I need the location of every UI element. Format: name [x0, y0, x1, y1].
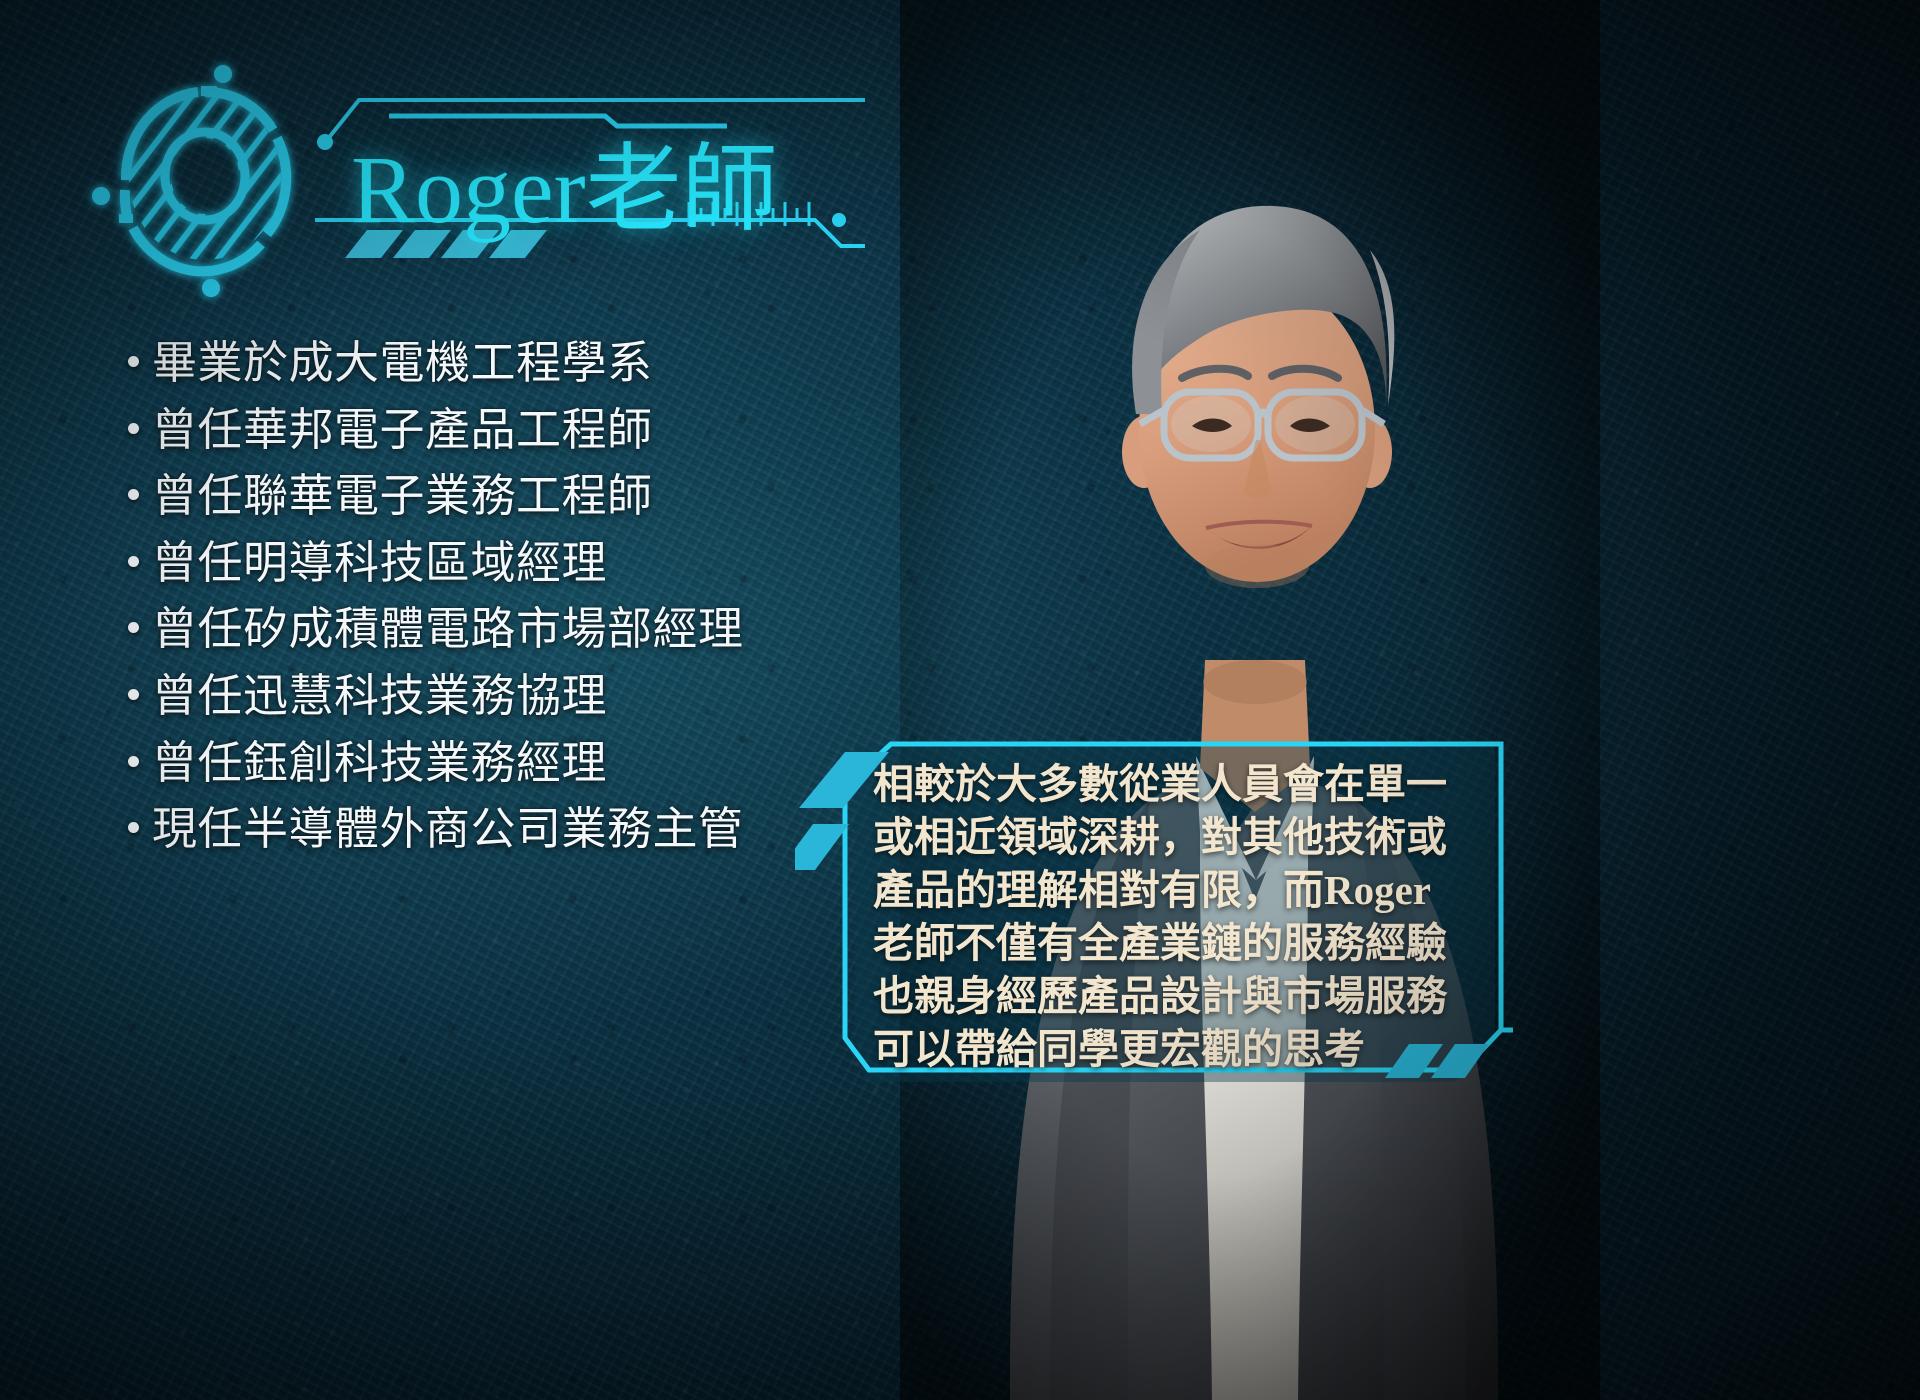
list-item: 曾任迅慧科技業務協理 — [128, 663, 908, 730]
quote-line: 老師不僅有全產業鏈的服務經驗 — [873, 917, 1503, 970]
list-item: 現任半導體外商公司業務主管 — [128, 796, 908, 863]
list-item-label: 曾任明導科技區域經理 — [152, 530, 607, 597]
bullet-dot-icon — [128, 489, 139, 500]
bullet-dot-icon — [128, 756, 139, 767]
slide-canvas: Roger老師 畢業於成大電機工程學系 曾任華邦電子產品工程師 曾任聯華電子業務… — [0, 0, 1920, 1400]
list-item-label: 曾任聯華電子業務工程師 — [152, 463, 653, 530]
title-block: Roger老師 — [345, 62, 865, 287]
bullet-dot-icon — [128, 689, 139, 700]
list-item-label: 曾任鈺創科技業務經理 — [152, 730, 607, 797]
bullet-dot-icon — [128, 822, 139, 833]
bullet-dot-icon — [128, 423, 139, 434]
list-item: 曾任聯華電子業務工程師 — [128, 463, 908, 530]
list-item: 曾任鈺創科技業務經理 — [128, 730, 908, 797]
tech-circle-logo — [95, 62, 315, 294]
connector-node-icon — [317, 134, 333, 150]
quote-line: 產品的理解相對有限，而Roger — [873, 864, 1503, 917]
bullet-dot-icon — [128, 356, 139, 367]
quote-callout: 相較於大多數從業人員會在單一 或相近領域深耕，對其他技術或 產品的理解相對有限，… — [795, 738, 1513, 1090]
list-item: 畢業於成大電機工程學系 — [128, 330, 908, 397]
quote-line: 可以帶給同學更宏觀的思考 — [873, 1023, 1503, 1076]
page-title: Roger老師 — [351, 142, 778, 238]
quote-line: 也親身經歷產品設計與市場服務 — [873, 970, 1503, 1023]
quote-line: 或相近領域深耕，對其他技術或 — [873, 811, 1503, 864]
list-item: 曾任明導科技區域經理 — [128, 530, 908, 597]
list-item-label: 畢業於成大電機工程學系 — [152, 330, 653, 397]
list-item: 曾任矽成積體電路市場部經理 — [128, 596, 908, 663]
quote-line: 相較於大多數從業人員會在單一 — [873, 758, 1503, 811]
avatar — [900, 0, 1600, 1400]
line-end-node-icon — [832, 213, 846, 227]
list-item-label: 曾任迅慧科技業務協理 — [152, 663, 607, 730]
list-item-label: 曾任矽成積體電路市場部經理 — [152, 596, 744, 663]
bullet-dot-icon — [128, 622, 139, 633]
credentials-list: 畢業於成大電機工程學系 曾任華邦電子產品工程師 曾任聯華電子業務工程師 曾任明導… — [128, 330, 908, 863]
quote-text: 相較於大多數從業人員會在單一 或相近領域深耕，對其他技術或 產品的理解相對有限，… — [873, 758, 1503, 1076]
list-item: 曾任華邦電子產品工程師 — [128, 397, 908, 464]
list-item-label: 現任半導體外商公司業務主管 — [152, 796, 744, 863]
bullet-dot-icon — [128, 556, 139, 567]
list-item-label: 曾任華邦電子產品工程師 — [152, 397, 653, 464]
